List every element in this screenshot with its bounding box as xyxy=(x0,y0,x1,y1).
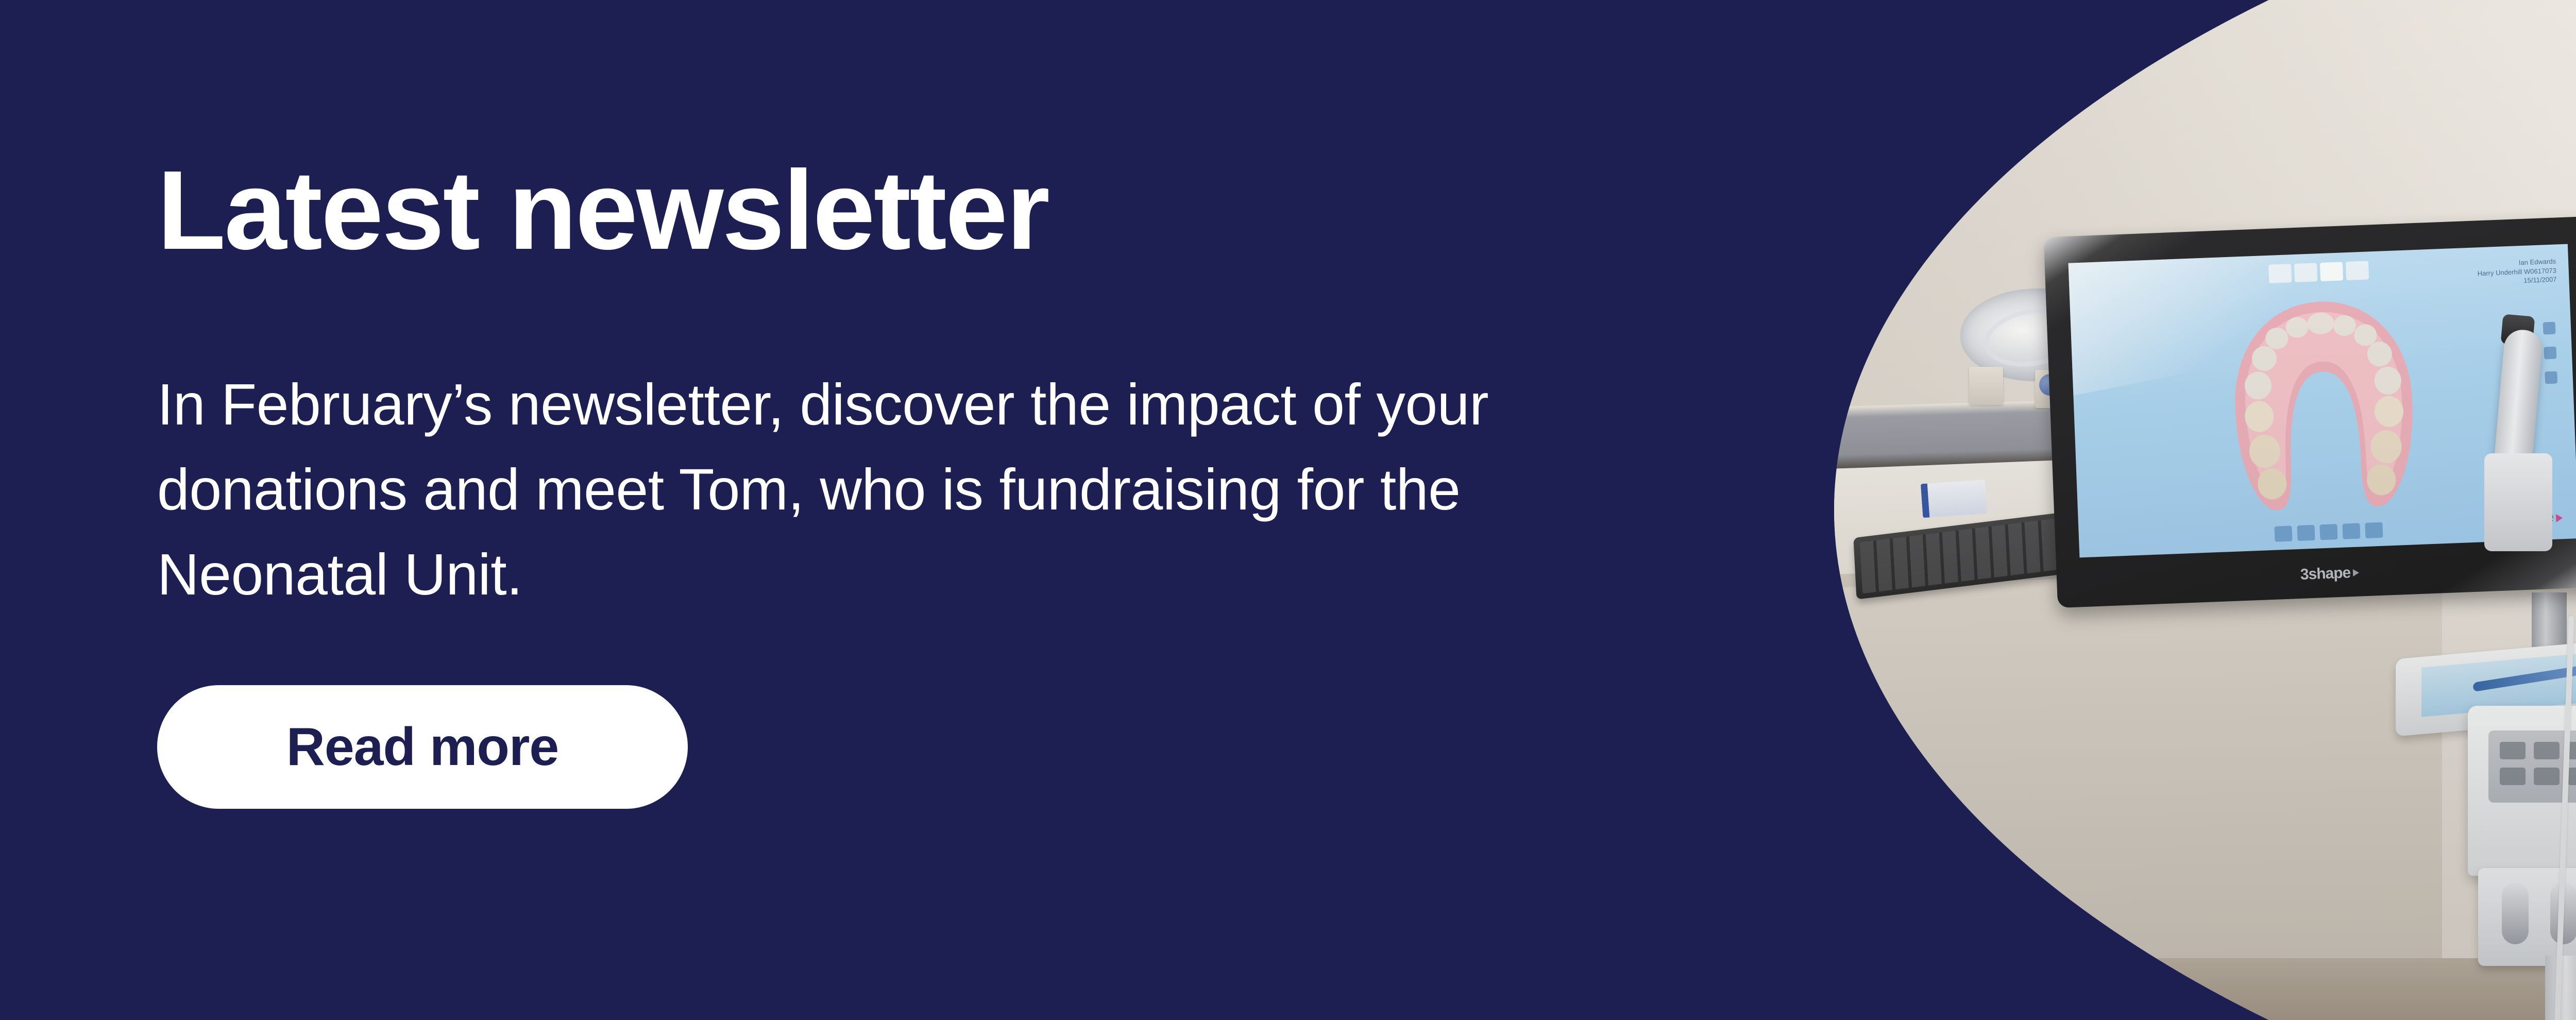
dental-arch-scan xyxy=(2216,291,2431,520)
toolbar-icon-bite[interactable] xyxy=(2346,261,2369,280)
page-title: Latest newsletter xyxy=(157,155,1048,267)
wall-outlet-plate xyxy=(1969,367,2003,405)
scan-toolbar[interactable] xyxy=(2268,261,2369,283)
clinic-photo-scene: Ian Edwards Harry Underhill W0617073 15/… xyxy=(1834,0,2576,1020)
cart-key xyxy=(2534,768,2560,785)
toolbar-icon-scan[interactable] xyxy=(2268,264,2292,283)
cart-key xyxy=(2500,742,2526,759)
tool-view-icon[interactable] xyxy=(2545,371,2557,384)
hero-description: In February’s newsletter, discover the i… xyxy=(157,362,1703,617)
cart-control-body xyxy=(2468,706,2576,876)
tool-add-icon[interactable] xyxy=(2543,322,2556,335)
hero-photo: Ian Edwards Harry Underhill W0617073 15/… xyxy=(1834,0,2576,1020)
description-line-1: In February’s newsletter, discover the i… xyxy=(157,362,1703,447)
dental-delivery-cart xyxy=(2391,647,2576,1020)
hero-text-panel: Latest newsletter In February’s newslett… xyxy=(157,0,1754,1020)
cart-key xyxy=(2500,768,2526,785)
id-badge xyxy=(1921,480,1987,518)
bottom-icon-annotation[interactable] xyxy=(2319,524,2337,540)
read-more-button[interactable]: Read more xyxy=(157,685,688,809)
patient-meta: Ian Edwards Harry Underhill W0617073 15/… xyxy=(2477,257,2557,286)
newsletter-hero-banner: Ian Edwards Harry Underhill W0617073 15/… xyxy=(0,0,2576,1020)
bottom-icon-occlusion[interactable] xyxy=(2297,525,2315,541)
screen-bottom-toolbar[interactable] xyxy=(2274,522,2383,542)
bottom-icon-trim[interactable] xyxy=(2342,523,2360,539)
cart-key xyxy=(2568,768,2576,785)
screen-side-tools[interactable] xyxy=(2543,322,2558,384)
bottom-icon-direction[interactable] xyxy=(2274,526,2292,542)
tool-colour-icon[interactable] xyxy=(2544,347,2556,360)
cart-key xyxy=(2534,742,2560,759)
bottom-icon-lock[interactable] xyxy=(2365,522,2383,538)
description-line-2: donations and meet Tom, who is fundraisi… xyxy=(157,447,1703,532)
description-line-3: Neonatal Unit. xyxy=(157,532,1703,617)
handpiece xyxy=(2502,882,2529,944)
left-cabinet xyxy=(1834,566,2442,1020)
toolbar-icon-trim[interactable] xyxy=(2294,263,2317,282)
toolbar-icon-arch[interactable] xyxy=(2320,262,2343,281)
scanner-wand-holder xyxy=(2484,453,2552,551)
